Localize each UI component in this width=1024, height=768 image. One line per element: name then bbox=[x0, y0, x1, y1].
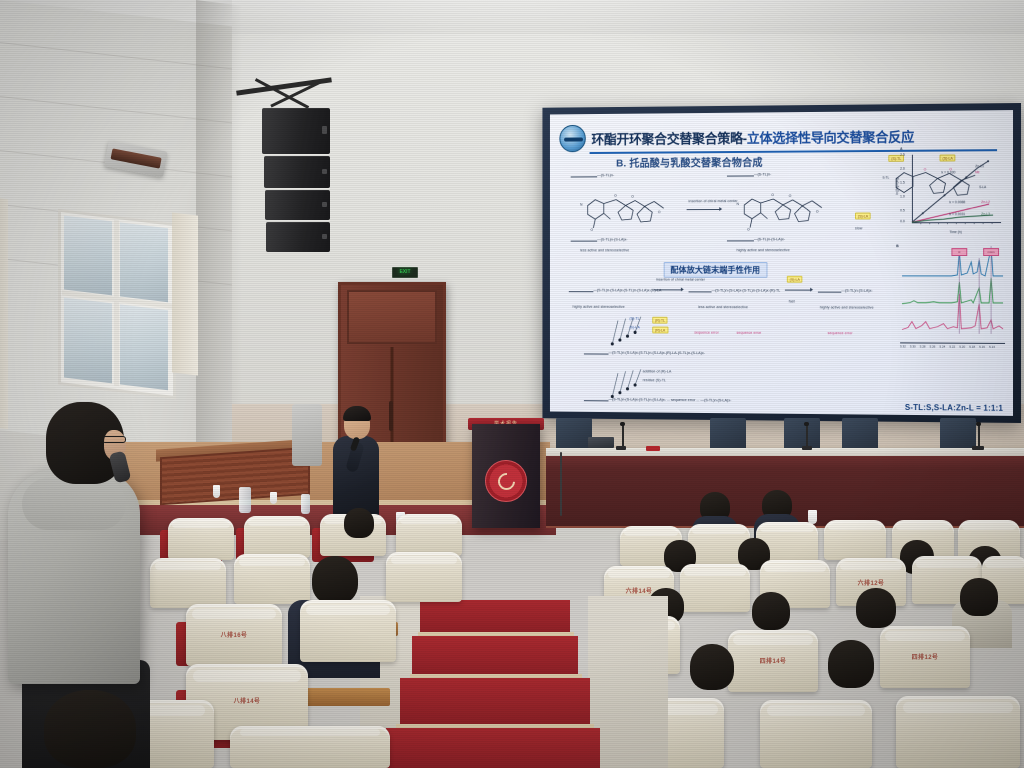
kinetics-plot: A ln([M]0/[M]) Time (h) 2.5 2.0 1.5 1.0 … bbox=[898, 146, 1005, 238]
water-bottle-1 bbox=[239, 487, 251, 513]
kinetics-series bbox=[898, 146, 1005, 238]
device-black-1 bbox=[616, 446, 626, 450]
cable-run bbox=[560, 452, 562, 516]
seat-back[interactable] bbox=[150, 558, 226, 608]
university-emblem bbox=[485, 460, 527, 502]
nmr-annotation-mmm: mmm bbox=[983, 248, 999, 256]
audience-head-r10 bbox=[960, 578, 998, 616]
trash-bin bbox=[292, 404, 322, 466]
series-annot-2: k = 0.0088 bbox=[949, 200, 965, 204]
chain-end-label-1: (S)-TL bbox=[629, 317, 639, 321]
window-curtain-left bbox=[0, 193, 8, 429]
panel-chair-2 bbox=[710, 418, 746, 448]
note-highly-active-1: highly active and stereoselective bbox=[737, 248, 790, 252]
chain-label-mid-1: —(S-TL)n-(S-LA)x-(S-TL)n-(S-LA)x-(R)-LA bbox=[593, 288, 661, 292]
audience-head-r12 bbox=[828, 640, 874, 688]
student-glasses bbox=[102, 436, 126, 443]
seat-back[interactable] bbox=[896, 696, 1020, 768]
chain-end-label-2: (S)-LA bbox=[629, 325, 639, 329]
panel-mic-3 bbox=[978, 424, 980, 446]
water-bottle-2 bbox=[301, 494, 310, 514]
series-name-1: Zn-L1 bbox=[975, 164, 984, 168]
paper-cup-1 bbox=[213, 485, 220, 498]
nmr-traces bbox=[896, 242, 1007, 346]
nmr-xtick-6: 5.20 bbox=[959, 345, 965, 349]
floor-tile-right bbox=[588, 596, 668, 768]
nmr-xtick-2: 5.28 bbox=[920, 344, 926, 348]
panel-chair-4 bbox=[842, 418, 878, 448]
chain-label-tl-1: —(S-TL)n- bbox=[597, 173, 614, 177]
series-name-2: Zn-L2 bbox=[981, 200, 990, 204]
chem-structure-2: NOO OO bbox=[731, 183, 840, 233]
chain-rule-mid-1 bbox=[569, 291, 594, 292]
badge-rla-1: (R)-LA bbox=[652, 327, 668, 334]
svg-text:S-TL: S-TL bbox=[882, 176, 889, 180]
side-window bbox=[58, 209, 176, 399]
nmr-xtick-9: 5.14 bbox=[989, 345, 995, 349]
badge-rtl-1: (R)-TL bbox=[652, 317, 668, 324]
svg-text:N: N bbox=[737, 202, 740, 206]
paper-cup-2 bbox=[270, 492, 277, 504]
badge-sla-1: (S)-LA bbox=[855, 212, 871, 219]
seat-label: 八排16号 bbox=[186, 630, 282, 639]
panel-chair-3 bbox=[784, 418, 820, 448]
chain-rule-tl-1 bbox=[571, 176, 597, 177]
red-folder bbox=[646, 446, 660, 451]
series-annot-3: k = 0.0031 bbox=[949, 212, 965, 216]
aisle-carpet-step-1 bbox=[420, 600, 570, 634]
foreground-head bbox=[44, 690, 136, 768]
nmr-xtick-1: 5.30 bbox=[910, 344, 916, 348]
svg-text:O: O bbox=[771, 193, 774, 197]
seat-back[interactable] bbox=[396, 514, 462, 556]
chain-label-prod-2: —(S-TL)n-(S-LA)x- bbox=[754, 237, 785, 241]
note-less-active-1: less active and stereoselective bbox=[580, 248, 629, 252]
note-sequence-error-1: sequence error bbox=[694, 331, 719, 335]
line-array-speaker-4 bbox=[266, 222, 330, 252]
nmr-caption: S-TL:S,S-LA:Zn-L = 1:1:1 bbox=[905, 403, 1003, 413]
aisle-carpet-step-2 bbox=[412, 636, 578, 676]
line-array-speaker-2 bbox=[264, 156, 330, 188]
panel-chair-5 bbox=[940, 418, 976, 448]
ceiling-beam bbox=[232, 0, 1024, 34]
university-seal-icon bbox=[559, 125, 585, 152]
note-less-active-2: less active and stereoselective bbox=[698, 305, 748, 309]
aisle-carpet-step-3 bbox=[400, 678, 590, 726]
projection-screen-frame: 环酯开环聚合交替聚合策略-立体选择性导向交替聚合反应 B. 托品酸与乳酸交替聚合… bbox=[542, 103, 1021, 423]
window-curtain-right bbox=[172, 212, 198, 375]
seat-back[interactable] bbox=[680, 564, 750, 612]
lecture-hall-photo: EXIT 环酯开环聚合交替聚合策略-立体选择性导向交替聚合反应 B. 托品酸与乳… bbox=[0, 0, 1024, 768]
audience-head-l2 bbox=[312, 556, 358, 604]
presenter-hair bbox=[343, 406, 371, 421]
section-banner: 配体放大链末端手性作用 bbox=[664, 262, 767, 278]
chain-rule-mid-2 bbox=[689, 291, 712, 292]
note-insertion-mid: insertion of chiral metal center bbox=[656, 278, 705, 282]
projected-slide: 环酯开环聚合交替聚合策略-立体选择性导向交替聚合反应 B. 托品酸与乳酸交替聚合… bbox=[550, 110, 1013, 416]
seat-label: 六排12号 bbox=[836, 578, 906, 587]
audience-head-r8 bbox=[752, 592, 790, 630]
note-residue: residue (S)-TL bbox=[643, 378, 666, 382]
note-slow-1: slow bbox=[855, 226, 862, 230]
seat-back[interactable]: 四排12号 bbox=[880, 626, 970, 688]
seat-back[interactable] bbox=[244, 516, 310, 558]
exit-sign-left: EXIT bbox=[392, 267, 418, 278]
seat-back[interactable] bbox=[824, 520, 886, 560]
line-array-speaker-1 bbox=[262, 108, 330, 154]
chain-rule-mid-3 bbox=[818, 292, 841, 293]
seat-back[interactable] bbox=[234, 554, 310, 604]
chain-rule-bottom-1 bbox=[584, 353, 609, 354]
seat-label: 四排14号 bbox=[728, 656, 818, 665]
exit-sign-label: EXIT bbox=[399, 270, 410, 275]
chain-rule-prod-1 bbox=[571, 241, 597, 242]
hoodie-hood bbox=[22, 478, 126, 530]
audience-head-l1 bbox=[344, 508, 374, 538]
seat-back[interactable]: 四排14号 bbox=[728, 630, 818, 692]
nmr-xtick-0: 5.32 bbox=[900, 344, 906, 348]
lectern-podium bbox=[472, 424, 540, 528]
laptop-on-table bbox=[588, 437, 614, 448]
panel-mic-2 bbox=[806, 424, 808, 446]
svg-text:N: N bbox=[580, 203, 583, 207]
svg-text:O: O bbox=[591, 228, 594, 232]
svg-text:O: O bbox=[658, 210, 661, 214]
seat-label: 四排12号 bbox=[880, 652, 970, 661]
reaction-arrow-1 bbox=[687, 209, 722, 210]
chain-label-tl-2: —(S-TL)n- bbox=[754, 172, 771, 176]
nmr-xtick-7: 5.18 bbox=[969, 345, 975, 349]
seat-back[interactable] bbox=[760, 700, 872, 768]
nmr-spectra-panel: B iii mmm 5.32 5.30 5.28 5.26 5.24 bbox=[896, 242, 1007, 360]
chain-label-mid-2: —(S-TL)n-(S-LA)x-(S-TL)n-(S-LA)x-(R)-TL bbox=[712, 289, 781, 293]
chain-rule-prod-2 bbox=[727, 240, 754, 241]
svg-text:O: O bbox=[816, 210, 819, 214]
audience-head-r11 bbox=[690, 644, 734, 690]
note-sequence-error-2: sequence error bbox=[737, 331, 762, 335]
svg-text:O: O bbox=[614, 194, 617, 198]
device-black-3 bbox=[972, 446, 984, 450]
note-fast-1: fast bbox=[789, 299, 795, 303]
chain-label-mid-3: —(S-TL)n-(S-LA)x- bbox=[841, 289, 872, 293]
seat-back[interactable]: 八排16号 bbox=[186, 604, 282, 666]
badge-sla-2: (S)-LA bbox=[787, 276, 803, 283]
chain-label-prod-1: —(S-TL)n-(S-LA)x- bbox=[597, 238, 627, 242]
chain-rule-tl-2 bbox=[727, 175, 754, 176]
seat-back[interactable] bbox=[300, 600, 396, 662]
chain-label-bottom-1: —(S-TL)n-(S-LA)x-(S-TL)n-(S-LA)x-(R)-LA-… bbox=[609, 351, 705, 355]
note-sequence-error-3: sequence error bbox=[828, 331, 853, 335]
audience-head-r9 bbox=[856, 588, 896, 628]
chain-rule-bottom-2 bbox=[584, 400, 609, 401]
nmr-annotation-iii: iii bbox=[951, 248, 967, 256]
line-array-speaker-3 bbox=[265, 190, 330, 220]
nmr-xtick-5: 5.22 bbox=[949, 345, 955, 349]
seat-armrest-2 bbox=[300, 688, 390, 706]
seat-back[interactable] bbox=[386, 552, 462, 602]
panel-mic-1 bbox=[622, 424, 624, 446]
note-addition: addition of (R)-LA bbox=[643, 369, 672, 373]
note-highly-active-2: highly active and stereoselective bbox=[573, 305, 625, 309]
note-highly-active-3: highly active and stereoselective bbox=[820, 305, 874, 309]
svg-text:O: O bbox=[789, 194, 792, 198]
reaction-arrow-mid-2 bbox=[785, 290, 812, 291]
slide-subtitle: B. 托品酸与乳酸交替聚合物合成 bbox=[616, 155, 763, 171]
device-black-2 bbox=[802, 446, 812, 450]
series-annot-1: k = 0.030 bbox=[942, 170, 956, 174]
panel-chair-1 bbox=[556, 418, 592, 448]
slide-title: 环酯开环聚合交替聚合策略-立体选择性导向交替聚合反应 bbox=[591, 126, 914, 148]
svg-text:O: O bbox=[747, 228, 750, 232]
svg-text:O: O bbox=[631, 195, 634, 199]
nmr-xtick-8: 5.16 bbox=[979, 345, 985, 349]
seat-back[interactable] bbox=[230, 726, 390, 768]
chem-structure-1: NOO OO bbox=[574, 184, 680, 233]
seat-back[interactable] bbox=[168, 518, 234, 560]
series-name-3: Zn-L3 bbox=[981, 212, 990, 216]
aisle-carpet-step-4 bbox=[386, 728, 600, 768]
nmr-xtick-3: 5.26 bbox=[930, 345, 936, 349]
nmr-xtick-4: 5.24 bbox=[940, 345, 946, 349]
student-hoodie bbox=[8, 470, 140, 684]
